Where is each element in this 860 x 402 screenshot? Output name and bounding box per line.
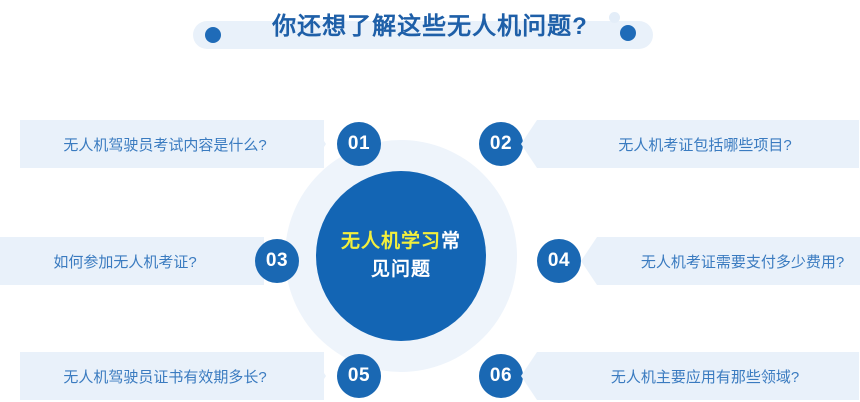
question-text-02: 无人机考证包括哪些项目? bbox=[618, 134, 791, 155]
page-title: 你还想了解这些无人机问题? bbox=[0, 6, 860, 41]
question-box-02[interactable]: 无人机考证包括哪些项目? bbox=[537, 120, 859, 168]
badge-04[interactable]: 04 bbox=[537, 239, 581, 283]
arrow-left-icon-02 bbox=[521, 120, 537, 168]
badge-02[interactable]: 02 bbox=[479, 122, 523, 166]
question-text-01: 无人机驾驶员考试内容是什么? bbox=[63, 134, 266, 155]
arrow-right-icon-05 bbox=[310, 352, 326, 400]
infographic-canvas: 你还想了解这些无人机问题? 无人机学习常 见问题 无人机驾驶员考试内容是什么? … bbox=[0, 0, 860, 402]
center-title-highlight: 无人机学习 bbox=[341, 231, 441, 252]
question-box-06[interactable]: 无人机主要应用有那些领域? bbox=[537, 352, 859, 400]
badge-01[interactable]: 01 bbox=[337, 122, 381, 166]
center-title-rest: 常 bbox=[441, 231, 461, 252]
arrow-right-icon-01 bbox=[310, 120, 326, 168]
question-text-06: 无人机主要应用有那些领域? bbox=[611, 366, 799, 387]
question-text-03: 如何参加无人机考证? bbox=[53, 251, 196, 272]
question-box-05[interactable]: 无人机驾驶员证书有效期多长? bbox=[20, 352, 324, 400]
center-circle: 无人机学习常 见问题 bbox=[316, 171, 486, 341]
arrow-left-icon-06 bbox=[521, 352, 537, 400]
center-title-line-2: 见问题 bbox=[371, 256, 431, 285]
question-box-01[interactable]: 无人机驾驶员考试内容是什么? bbox=[20, 120, 324, 168]
badge-03[interactable]: 03 bbox=[255, 239, 299, 283]
question-box-03[interactable]: 如何参加无人机考证? bbox=[0, 237, 264, 285]
question-text-05: 无人机驾驶员证书有效期多长? bbox=[63, 366, 266, 387]
question-text-04: 无人机考证需要支付多少费用? bbox=[641, 251, 844, 272]
arrow-left-icon-04 bbox=[581, 237, 597, 285]
center-title-line-1: 无人机学习常 bbox=[341, 228, 461, 257]
badge-06[interactable]: 06 bbox=[479, 354, 523, 398]
badge-05[interactable]: 05 bbox=[337, 354, 381, 398]
question-box-04[interactable]: 无人机考证需要支付多少费用? bbox=[597, 237, 860, 285]
